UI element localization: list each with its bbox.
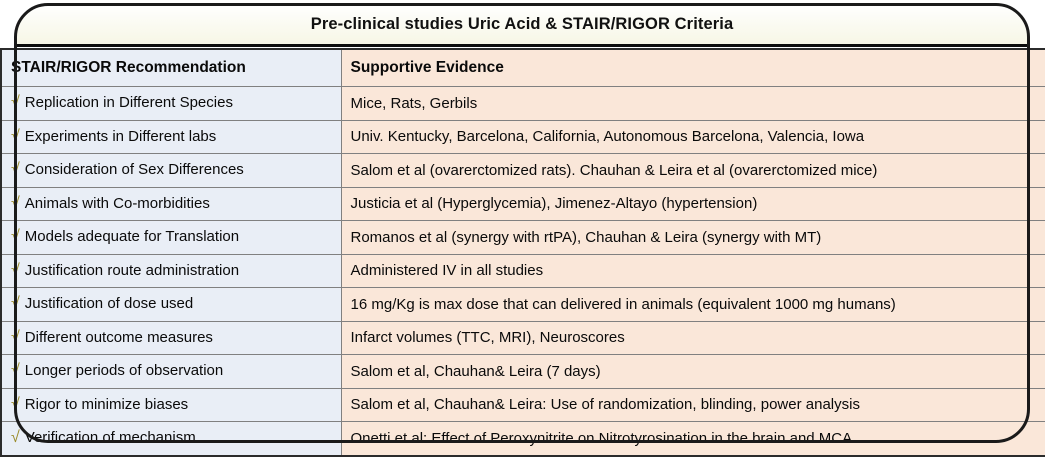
check-icon: √ — [11, 128, 20, 146]
recommendation-label: Animals with Co-morbidities — [25, 195, 210, 212]
table-row: √Models adequate for TranslationRomanos … — [1, 221, 1045, 255]
criteria-table-wrapper: STAIR/RIGOR Recommendation Supportive Ev… — [0, 48, 1045, 450]
cell-recommendation: √Experiments in Different labs — [1, 120, 341, 154]
table-title-bar: Pre-clinical studies Uric Acid & STAIR/R… — [16, 5, 1028, 47]
table-header-row: STAIR/RIGOR Recommendation Supportive Ev… — [1, 49, 1045, 87]
cell-recommendation: √Different outcome measures — [1, 321, 341, 355]
cell-evidence: Infarct volumes (TTC, MRI), Neuroscores — [341, 321, 1045, 355]
cell-evidence: Administered IV in all studies — [341, 254, 1045, 288]
recommendation-label: Justification of dose used — [25, 295, 193, 312]
header-cell-recommendation: STAIR/RIGOR Recommendation — [1, 49, 341, 87]
cell-evidence: Justicia et al (Hyperglycemia), Jimenez-… — [341, 187, 1045, 221]
cell-evidence: 16 mg/Kg is max dose that can delivered … — [341, 288, 1045, 322]
table-row: √Animals with Co-morbiditiesJusticia et … — [1, 187, 1045, 221]
table-row: √Experiments in Different labsUniv. Kent… — [1, 120, 1045, 154]
cell-recommendation: √Consideration of Sex Differences — [1, 154, 341, 188]
cell-recommendation: √Justification route administration — [1, 254, 341, 288]
page-title: Pre-clinical studies Uric Acid & STAIR/R… — [311, 15, 734, 34]
cell-recommendation: √Replication in Different Species — [1, 87, 341, 121]
recommendation-label: Verification of mechanism — [25, 429, 196, 446]
check-icon: √ — [11, 195, 20, 213]
cell-evidence: Mice, Rats, Gerbils — [341, 87, 1045, 121]
check-icon: √ — [11, 295, 20, 313]
check-icon: √ — [11, 161, 20, 179]
check-icon: √ — [11, 362, 20, 380]
check-icon: √ — [11, 329, 20, 347]
table-row: √Replication in Different SpeciesMice, R… — [1, 87, 1045, 121]
table-row: √Rigor to minimize biasesSalom et al, Ch… — [1, 388, 1045, 422]
table-row: √Different outcome measuresInfarct volum… — [1, 321, 1045, 355]
table-row: √Longer periods of observationSalom et a… — [1, 355, 1045, 389]
check-icon: √ — [11, 228, 20, 246]
check-icon: √ — [11, 429, 20, 447]
table-body: STAIR/RIGOR Recommendation Supportive Ev… — [1, 49, 1045, 456]
table-row: √Verification of mechanismOnetti et al: … — [1, 422, 1045, 456]
table-row: √Justification route administrationAdmin… — [1, 254, 1045, 288]
recommendation-label: Longer periods of observation — [25, 362, 223, 379]
recommendation-label: Models adequate for Translation — [25, 228, 239, 245]
cell-evidence: Univ. Kentucky, Barcelona, California, A… — [341, 120, 1045, 154]
cell-evidence: Salom et al, Chauhan& Leira: Use of rand… — [341, 388, 1045, 422]
recommendation-label: Replication in Different Species — [25, 94, 233, 111]
table-row: √Justification of dose used16 mg/Kg is m… — [1, 288, 1045, 322]
table-row: √Consideration of Sex DifferencesSalom e… — [1, 154, 1045, 188]
recommendation-label: Rigor to minimize biases — [25, 396, 188, 413]
cell-recommendation: √Rigor to minimize biases — [1, 388, 341, 422]
cell-recommendation: √Longer periods of observation — [1, 355, 341, 389]
check-icon: √ — [11, 396, 20, 414]
cell-recommendation: √Animals with Co-morbidities — [1, 187, 341, 221]
recommendation-label: Justification route administration — [25, 262, 239, 279]
cell-recommendation: √Verification of mechanism — [1, 422, 341, 456]
cell-evidence: Onetti et al: Effect of Peroxynitrite on… — [341, 422, 1045, 456]
criteria-table: STAIR/RIGOR Recommendation Supportive Ev… — [0, 48, 1045, 457]
cell-evidence: Salom et al (ovarerctomized rats). Chauh… — [341, 154, 1045, 188]
cell-evidence: Salom et al, Chauhan& Leira (7 days) — [341, 355, 1045, 389]
check-icon: √ — [11, 94, 20, 112]
cell-recommendation: √Justification of dose used — [1, 288, 341, 322]
recommendation-label: Different outcome measures — [25, 329, 213, 346]
slide-canvas: Pre-clinical studies Uric Acid & STAIR/R… — [0, 0, 1045, 450]
recommendation-label: Experiments in Different labs — [25, 128, 216, 145]
check-icon: √ — [11, 262, 20, 280]
cell-recommendation: √Models adequate for Translation — [1, 221, 341, 255]
cell-evidence: Romanos et al (synergy with rtPA), Chauh… — [341, 221, 1045, 255]
header-cell-evidence: Supportive Evidence — [341, 49, 1045, 87]
recommendation-label: Consideration of Sex Differences — [25, 161, 244, 178]
